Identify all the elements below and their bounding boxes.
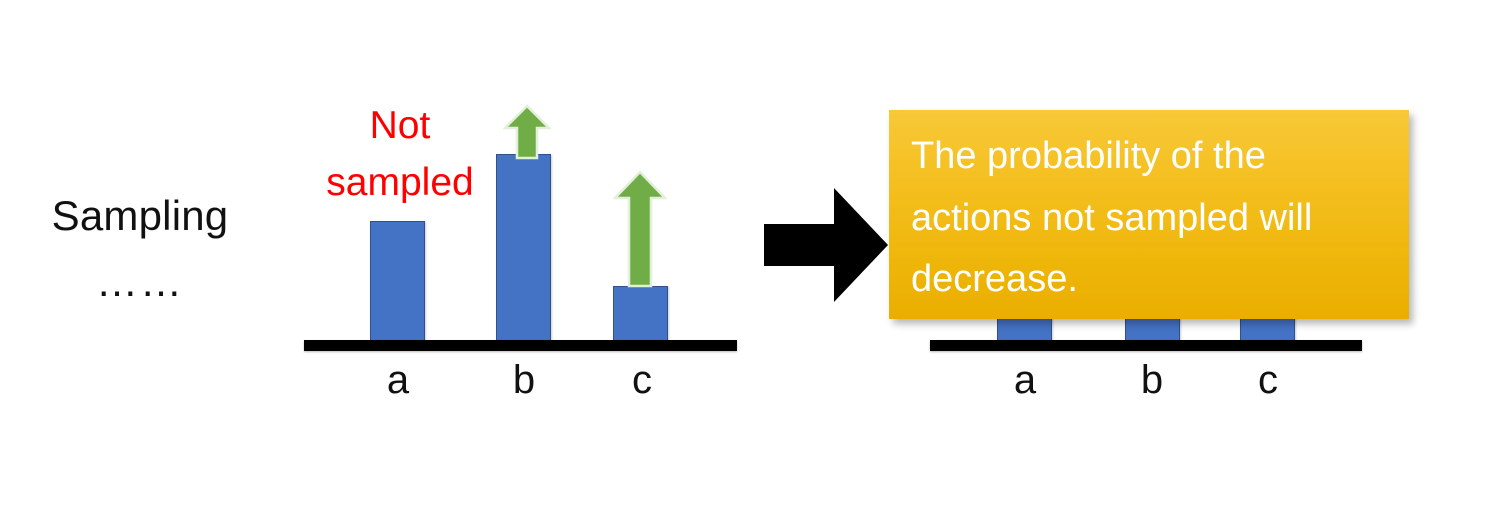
chart-before: Not sampled Not sampled a b c <box>0 0 760 420</box>
axis-label-before-a: a <box>368 360 428 400</box>
axis-baseline-before <box>304 340 737 351</box>
callout-text: The probability of the actions not sampl… <box>911 126 1395 311</box>
axis-label-before-b: b <box>494 360 554 400</box>
slide-canvas: Sampling …… Not sampled Not sampled <box>0 0 1496 512</box>
axis-label-after-a: a <box>995 360 1055 400</box>
increase-arrow-c <box>613 170 667 288</box>
axis-baseline-after <box>930 340 1362 351</box>
not-sampled-word-sampled: sampled <box>326 161 473 204</box>
not-sampled-word-not: Not <box>370 104 431 147</box>
arrow-right-icon <box>762 186 890 304</box>
bar-before-b <box>496 154 551 343</box>
callout-box: The probability of the actions not sampl… <box>889 110 1409 319</box>
increase-arrow-b <box>503 104 551 160</box>
bar-before-a <box>370 221 425 343</box>
axis-label-before-c: c <box>612 360 672 400</box>
axis-label-after-c: c <box>1238 360 1298 400</box>
axis-label-after-b: b <box>1122 360 1182 400</box>
not-sampled-annotation: Not sampled Not sampled <box>300 98 500 211</box>
bar-before-c <box>613 286 668 343</box>
